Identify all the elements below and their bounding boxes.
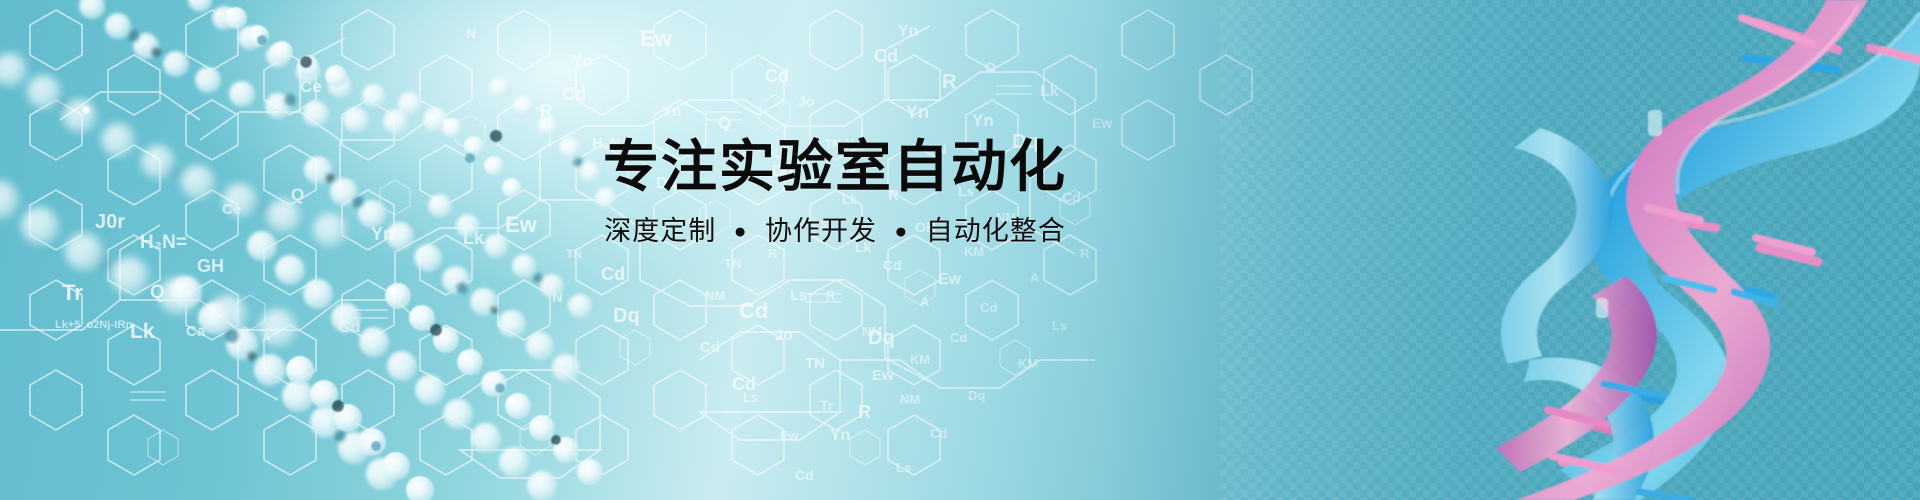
subtitle-part-2: 协作开发 — [765, 216, 877, 246]
dna-double-helix-ribbon — [0, 0, 1920, 500]
subtitle-part-3: 自动化整合 — [926, 216, 1066, 246]
subtitle-part-1: 深度定制 — [604, 216, 716, 246]
banner-subtitle: 深度定制 ● 协作开发 ● 自动化整合 — [600, 217, 1070, 247]
banner-copy: 专注实验室自动化 深度定制 ● 协作开发 ● 自动化整合 — [600, 138, 1070, 247]
page-title: 专注实验室自动化 — [600, 138, 1070, 195]
hero-banner: Tr J0r Lk H₂N= Lk+5_o2Nj-tRn GH Q Ca Ce … — [0, 0, 1920, 500]
subtitle-separator-dot-2: ● — [895, 220, 909, 243]
subtitle-separator-dot-1: ● — [734, 220, 748, 243]
